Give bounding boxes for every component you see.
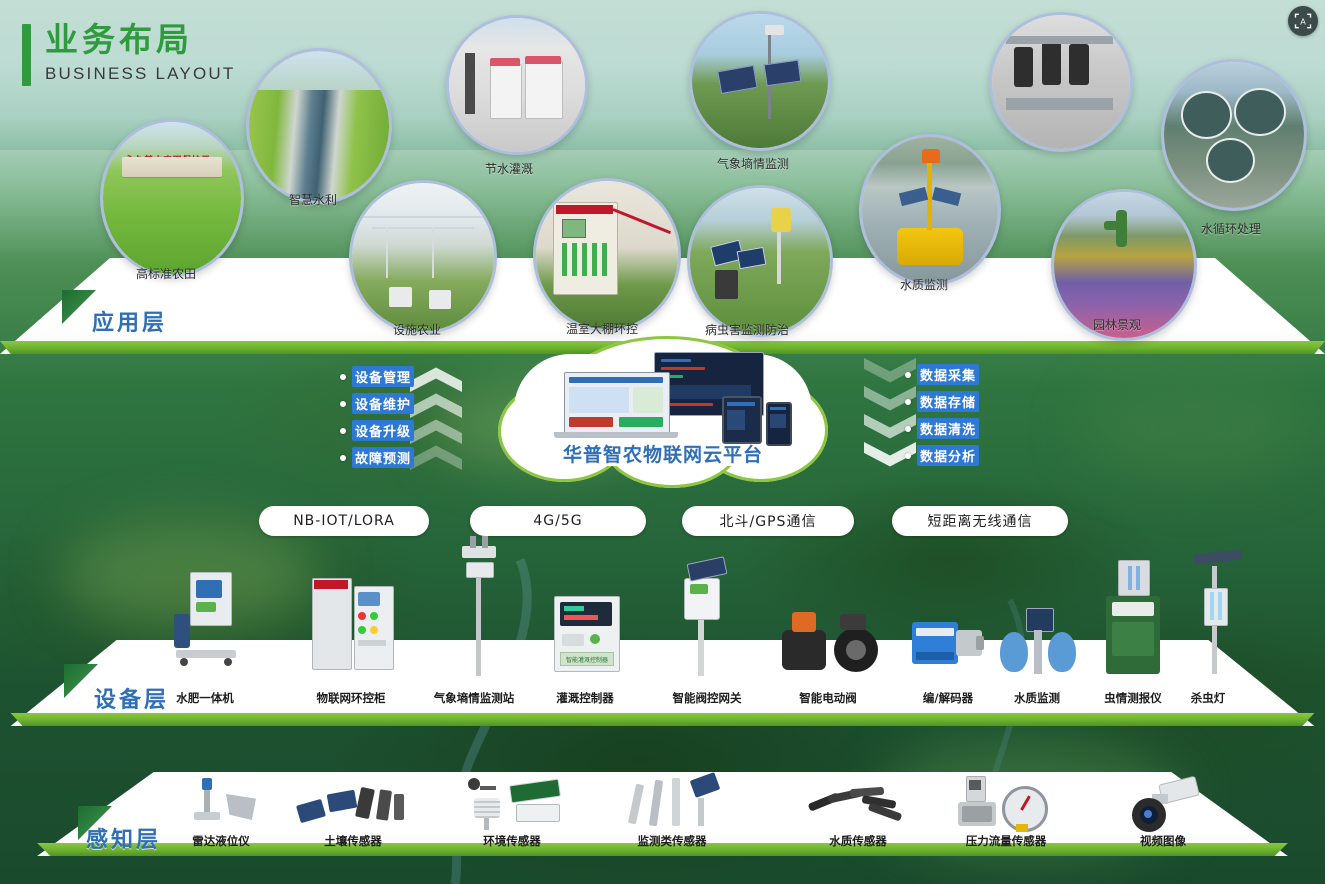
application-layer-label: 应用层 [92, 305, 167, 337]
bullet-item: 数据清洗 [905, 418, 979, 439]
tablet-mockup [722, 396, 762, 444]
icon-pressure-flow-sensor[interactable] [958, 776, 1052, 832]
bullet-label: 数据清洗 [917, 418, 979, 439]
device-caption-encoder-decoder: 编/解码器 [923, 690, 973, 706]
bullet-item: 数据采集 [905, 364, 979, 385]
irrigation-controller-screen-text: 智能灌溉控制器 [560, 652, 614, 666]
bullet-dot [905, 399, 911, 405]
icon-soil-sensor[interactable] [298, 782, 408, 832]
scene-caption-high-standard-farmland: 高标准农田 [136, 265, 196, 282]
icon-pest-forecasting-instrument[interactable] [1104, 560, 1162, 676]
scene-bubble-water-saving-irrigation[interactable] [446, 15, 588, 155]
cloud-platform: 华普智农物联网云平台 [498, 336, 828, 488]
perception-caption-video-image: 视频图像 [1140, 833, 1186, 849]
scene-caption-facility-agriculture: 设施农业 [393, 321, 441, 338]
icon-radar-level-meter[interactable] [188, 778, 260, 830]
icon-video-image[interactable] [1126, 780, 1200, 832]
bullet-item: 数据存储 [905, 391, 979, 412]
photo-high-standard-farmland: 永久基本农田保护示范区 [103, 122, 241, 274]
bullet-dot [340, 374, 346, 380]
icon-insect-killing-lamp[interactable] [1192, 540, 1246, 676]
bullet-label: 数据存储 [917, 391, 979, 412]
scene-caption-water-recycling-treatment: 水循环处理 [1201, 220, 1261, 237]
bullet-label: 故障预测 [352, 447, 414, 468]
device-caption-insect-killing-lamp: 杀虫灯 [1191, 690, 1226, 706]
page-title-block: 业务布局 BUSINESS LAYOUT [22, 20, 235, 86]
page-subtitle: BUSINESS LAYOUT [45, 62, 235, 86]
scene-bubble-pump-station[interactable] [989, 12, 1133, 152]
icon-smart-valve-control-gateway[interactable] [678, 560, 736, 676]
perception-caption-pressure-flow-sensor: 压力流量传感器 [966, 833, 1047, 849]
bullet-label: 设备升级 [352, 420, 414, 441]
icon-environment-sensor[interactable] [462, 778, 566, 832]
device-layer-label: 设备层 [94, 682, 169, 714]
bullet-dot [340, 401, 346, 407]
photo-pest-monitoring-control [690, 188, 830, 334]
device-platform-edge [0, 713, 1325, 726]
scene-caption-weather-soil-monitoring: 气象墒情监测 [717, 155, 789, 172]
bullet-item: 设备升级 [340, 420, 414, 441]
bullet-dot [340, 428, 346, 434]
network-pill-nbiot-lora[interactable]: NB-IOT/LORA [259, 506, 429, 536]
icon-irrigation-controller[interactable]: 智能灌溉控制器 [554, 596, 618, 676]
photo-water-recycling-treatment [1164, 62, 1304, 208]
bullet-item: 故障预测 [340, 447, 414, 468]
scene-bubble-water-quality-monitoring[interactable] [859, 134, 1001, 286]
perception-layer-label: 感知层 [86, 822, 161, 854]
scene-bubble-weather-soil-monitoring[interactable] [689, 11, 831, 151]
bullet-dot [905, 453, 911, 459]
laptop-mockup [564, 372, 670, 434]
bullet-dot [905, 426, 911, 432]
scene-bubble-high-standard-farmland[interactable]: 永久基本农田保护示范区 [100, 119, 244, 277]
title-accent-bar [22, 24, 31, 86]
device-caption-water-fertilizer-machine: 水肥一体机 [176, 690, 234, 706]
network-pill-beidou-gps[interactable]: 北斗/GPS通信 [682, 506, 854, 536]
perception-caption-radar-level-meter: 雷达液位仪 [192, 833, 250, 849]
bullet-dot [340, 455, 346, 461]
bullet-item: 设备管理 [340, 366, 414, 387]
bullet-dot [905, 372, 911, 378]
scene-caption-pest-monitoring-control: 病虫害监测防治 [705, 321, 789, 338]
text-recognition-icon[interactable]: A [1288, 6, 1318, 36]
cloud-platform-title: 华普智农物联网云平台 [498, 440, 828, 467]
device-caption-smart-valve-control-gateway: 智能阀控网关 [673, 690, 742, 706]
farmland-banner-text: 永久基本农田保护示范区 [125, 158, 219, 173]
bullet-item: 设备维护 [340, 393, 414, 414]
scene-bubble-pest-monitoring-control[interactable] [687, 185, 833, 337]
device-caption-smart-electric-valve: 智能电动阀 [799, 690, 857, 706]
bullet-label: 数据分析 [917, 445, 979, 466]
scene-caption-garden-landscape: 园林景观 [1093, 316, 1141, 333]
device-caption-pest-forecasting-instrument: 虫情测报仪 [1104, 690, 1162, 706]
photo-weather-soil-monitoring [692, 14, 828, 148]
bullet-item: 数据分析 [905, 445, 979, 466]
bullet-label: 数据采集 [917, 364, 979, 385]
svg-text:A: A [1300, 16, 1306, 26]
device-caption-water-quality-monitoring-device: 水质监测 [1014, 690, 1060, 706]
data-processing-bullet-list: 数据采集 数据存储 数据清洗 数据分析 [905, 364, 979, 472]
bullet-label: 设备维护 [352, 393, 414, 414]
platform-device-mockups [526, 350, 801, 436]
photo-pump-station [992, 15, 1130, 149]
scene-caption-water-quality-monitoring: 水质监测 [900, 276, 948, 293]
perception-caption-environment-sensor: 环境传感器 [483, 833, 541, 849]
scene-bubble-greenhouse-environment-control[interactable] [533, 178, 681, 332]
laptop-base [554, 432, 678, 438]
scene-bubble-water-recycling-treatment[interactable] [1161, 59, 1307, 211]
perception-caption-water-quality-sensor: 水质传感器 [829, 833, 887, 849]
photo-water-quality-monitoring [862, 137, 998, 283]
icon-smart-electric-valve[interactable] [782, 612, 878, 676]
scene-caption-greenhouse-environment-control: 温室大棚环控 [566, 320, 638, 337]
page-title: 业务布局 [45, 20, 235, 60]
device-caption-weather-soil-monitoring-station: 气象墒情监测站 [434, 690, 515, 706]
perception-caption-soil-sensor: 土壤传感器 [324, 833, 382, 849]
icon-iot-environment-control-cabinet[interactable] [312, 578, 394, 674]
icon-water-quality-sensor[interactable] [808, 784, 906, 830]
bullet-label: 设备管理 [352, 366, 414, 387]
icon-weather-soil-monitoring-station[interactable] [458, 536, 504, 676]
scene-caption-water-saving-irrigation: 节水灌溉 [485, 160, 533, 177]
scene-bubble-smart-water-conservancy[interactable] [246, 48, 392, 204]
network-pill-short-range-wireless[interactable]: 短距离无线通信 [892, 506, 1068, 536]
scene-bubble-facility-agriculture[interactable] [349, 180, 497, 334]
device-caption-irrigation-controller: 灌溉控制器 [556, 690, 614, 706]
device-caption-iot-environment-control-cabinet: 物联网环控柜 [317, 690, 386, 706]
photo-water-saving-irrigation [449, 18, 585, 152]
icon-encoder-decoder[interactable] [912, 612, 984, 676]
perception-caption-monitoring-sensor: 监测类传感器 [638, 833, 707, 849]
icon-water-quality-monitoring-device[interactable] [1000, 608, 1076, 676]
network-pill-4g-5g[interactable]: 4G/5G [470, 506, 646, 536]
scene-caption-smart-water-conservancy: 智慧水利 [289, 191, 337, 208]
photo-greenhouse-environment-control [536, 181, 678, 329]
device-management-bullet-list: 设备管理 设备维护 设备升级 故障预测 [340, 366, 414, 474]
photo-facility-agriculture [352, 183, 494, 331]
icon-water-fertilizer-machine[interactable] [172, 572, 242, 674]
icon-monitoring-sensor[interactable] [628, 776, 724, 832]
infographic-canvas: 业务布局 BUSINESS LAYOUT A 应用层 永久基本农田保护示范区 高… [0, 0, 1325, 884]
photo-smart-water-conservancy [249, 51, 389, 201]
